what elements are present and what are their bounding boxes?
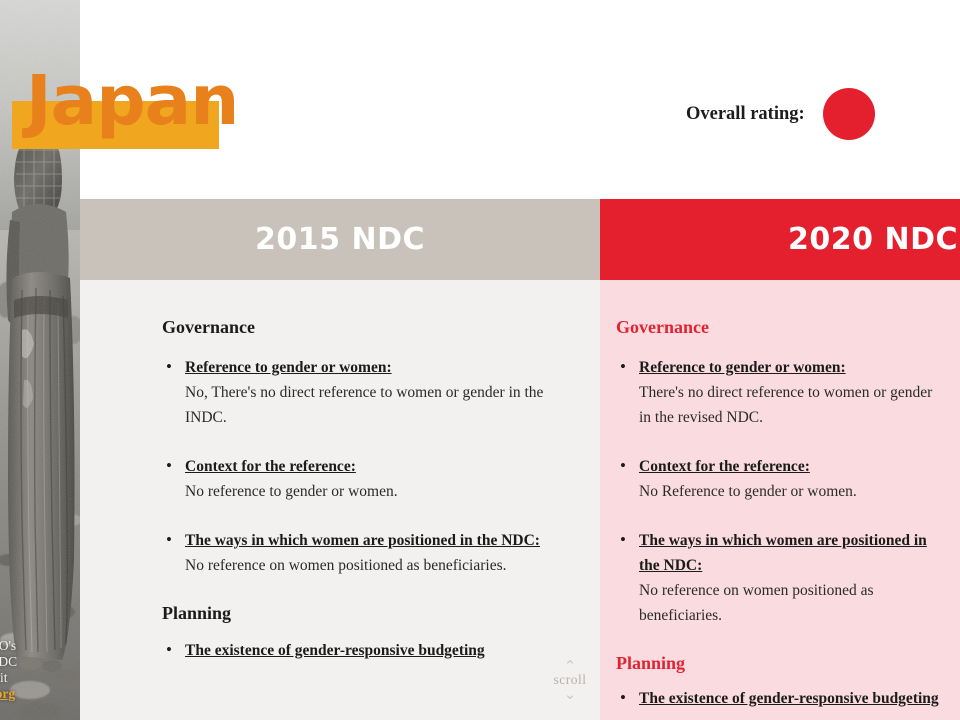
list-item: Context for the reference: No Reference … (616, 454, 960, 504)
section-heading-governance-2015: Governance (162, 316, 582, 338)
item-label: Reference to gender or women: (185, 355, 582, 380)
ndc-tab-bar: 2015 NDC 2020 NDC (80, 199, 960, 280)
item-body-line-2: beneficiaries. (639, 603, 960, 628)
list-item: The ways in which women are positioned i… (616, 528, 960, 628)
country-title-block: Japan (12, 62, 302, 160)
planning-items-2015: The existence of gender-responsive budge… (162, 638, 582, 663)
sidebar-caption-link[interactable]: cker.org (0, 686, 80, 702)
scroll-hint[interactable]: ⌃ scroll ⌄ (543, 660, 597, 700)
item-body: No reference to gender or women. (185, 479, 582, 504)
chevron-up-icon[interactable]: ⌃ (543, 660, 597, 672)
ndc-comparison-columns: Governance Reference to gender or women:… (80, 280, 960, 720)
overall-rating-label: Overall rating: (686, 104, 805, 125)
column-2015-content: Governance Reference to gender or women:… (162, 280, 582, 687)
tab-2020-ndc[interactable]: 2020 NDC (600, 199, 960, 280)
list-item: The existence of gender-responsive budge… (162, 638, 582, 663)
item-body: No reference on women positioned as bene… (185, 553, 582, 578)
item-body: No, There's no direct reference to women… (185, 380, 582, 430)
item-label: The ways in which women are positioned i… (185, 528, 582, 553)
item-body-line-1: There's no direct reference to women or … (639, 380, 960, 405)
sidebar-caption: WEDO's ker NDC Visit cker.org (0, 638, 80, 702)
planning-items-2020: The existence of gender-responsive budge… (616, 686, 960, 711)
section-heading-planning-2020: Planning (616, 652, 960, 674)
tab-2015-ndc-label: 2015 NDC (255, 222, 425, 257)
sidebar-caption-line-2: ker NDC (0, 654, 80, 670)
item-label: The existence of gender-responsive budge… (185, 638, 582, 663)
tab-2020-ndc-label: 2020 NDC (788, 222, 958, 257)
section-heading-planning-2015: Planning (162, 602, 582, 624)
item-label: The ways in which women are positioned i… (639, 528, 939, 578)
sidebar-caption-line-1: WEDO's (0, 638, 80, 654)
item-label: Context for the reference: (185, 454, 582, 479)
item-body-line-2: in the revised NDC. (639, 405, 960, 430)
list-item: Context for the reference: No reference … (162, 454, 582, 504)
governance-items-2015: Reference to gender or women: No, There'… (162, 355, 582, 578)
governance-items-2020: Reference to gender or women: There's no… (616, 355, 960, 628)
column-2020-content: Governance Reference to gender or women:… (616, 280, 960, 720)
chevron-down-icon[interactable]: ⌄ (543, 688, 597, 700)
page-header: Japan Overall rating: (80, 0, 960, 198)
list-item: Reference to gender or women: No, There'… (162, 355, 582, 430)
ndc-comparison-page: WEDO's ker NDC Visit cker.org Japan Over… (0, 0, 960, 720)
column-2020-ndc: Governance Reference to gender or women:… (600, 280, 960, 720)
item-body-line-1: No reference on women positioned as (639, 578, 960, 603)
tab-2015-ndc[interactable]: 2015 NDC (80, 199, 600, 280)
item-label: The existence of gender-responsive budge… (639, 686, 960, 711)
page-title: Japan (26, 62, 238, 140)
item-label: Reference to gender or women: (639, 355, 960, 380)
list-item: The ways in which women are positioned i… (162, 528, 582, 578)
sidebar-caption-line-3: Visit (0, 670, 80, 686)
overall-rating-block: Overall rating: (686, 88, 875, 140)
overall-rating-indicator (823, 88, 875, 140)
list-item: Reference to gender or women: There's no… (616, 355, 960, 430)
item-label: Context for the reference: (639, 454, 960, 479)
section-heading-governance-2020: Governance (616, 316, 960, 338)
item-body-line-1: No Reference to gender or women. (639, 479, 960, 504)
column-2015-ndc: Governance Reference to gender or women:… (80, 280, 600, 720)
list-item: The existence of gender-responsive budge… (616, 686, 960, 711)
